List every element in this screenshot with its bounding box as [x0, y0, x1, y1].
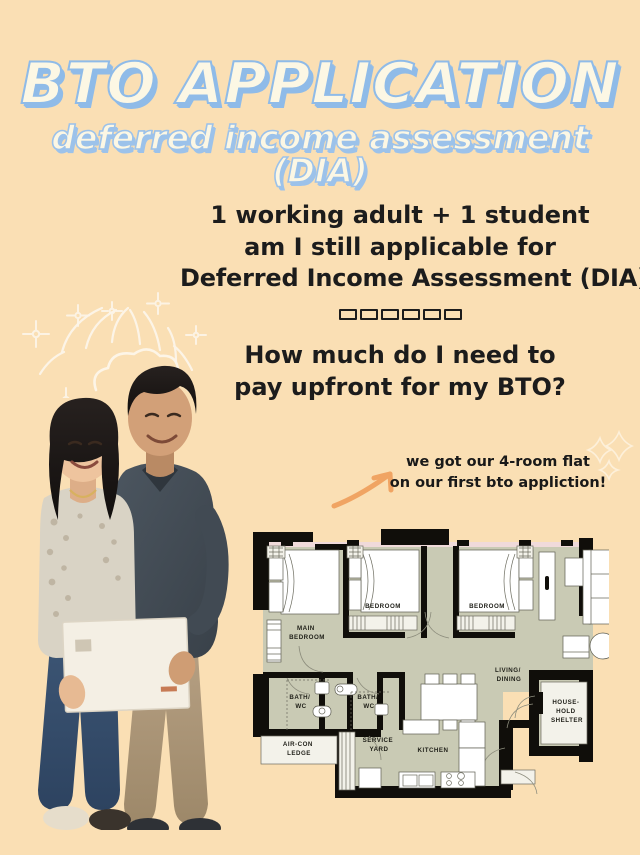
room-label-bedroom-2: BEDROOM — [365, 603, 401, 610]
page-title: BTO APPLICATION — [0, 56, 640, 113]
question2-line-1: How much do I need to — [180, 340, 620, 372]
divider-dash — [402, 309, 420, 320]
dash-divider — [180, 309, 620, 320]
question-line-2: am I still applicable for — [180, 232, 620, 264]
annotation-line-2: on our first bto appliction! — [388, 473, 608, 494]
question-block-secondary: How much do I need to pay upfront for my… — [180, 340, 620, 403]
bedroom-2-furniture — [347, 546, 419, 630]
question-line-1: 1 working adult + 1 student — [180, 200, 620, 232]
page-subtitle: deferred income assessment (DIA) — [0, 121, 640, 187]
divider-dash — [444, 309, 462, 320]
annotation-line-1: we got our 4-room flat — [388, 452, 608, 473]
annotation-note: we got our 4-room flat on our first bto … — [388, 452, 608, 493]
question-line-3: Deferred Income Assessment (DIA)? — [180, 263, 620, 295]
room-label-kitchen: KITCHEN — [418, 747, 449, 754]
poster-canvas: BTO APPLICATION deferred income assessme… — [0, 0, 640, 855]
room-label-bedroom-3: BEDROOM — [469, 603, 505, 610]
floorplan-4room: .wall{fill:#100e0a;} .floor{fill:#c9cab4… — [243, 524, 609, 812]
divider-dash — [381, 309, 399, 320]
question2-line-2: pay upfront for my BTO? — [180, 372, 620, 404]
divider-dash — [339, 309, 357, 320]
header-group: BTO APPLICATION deferred income assessme… — [0, 56, 640, 187]
question-block-primary: 1 working adult + 1 student am I still a… — [180, 200, 620, 336]
divider-dash — [360, 309, 378, 320]
divider-dash — [423, 309, 441, 320]
